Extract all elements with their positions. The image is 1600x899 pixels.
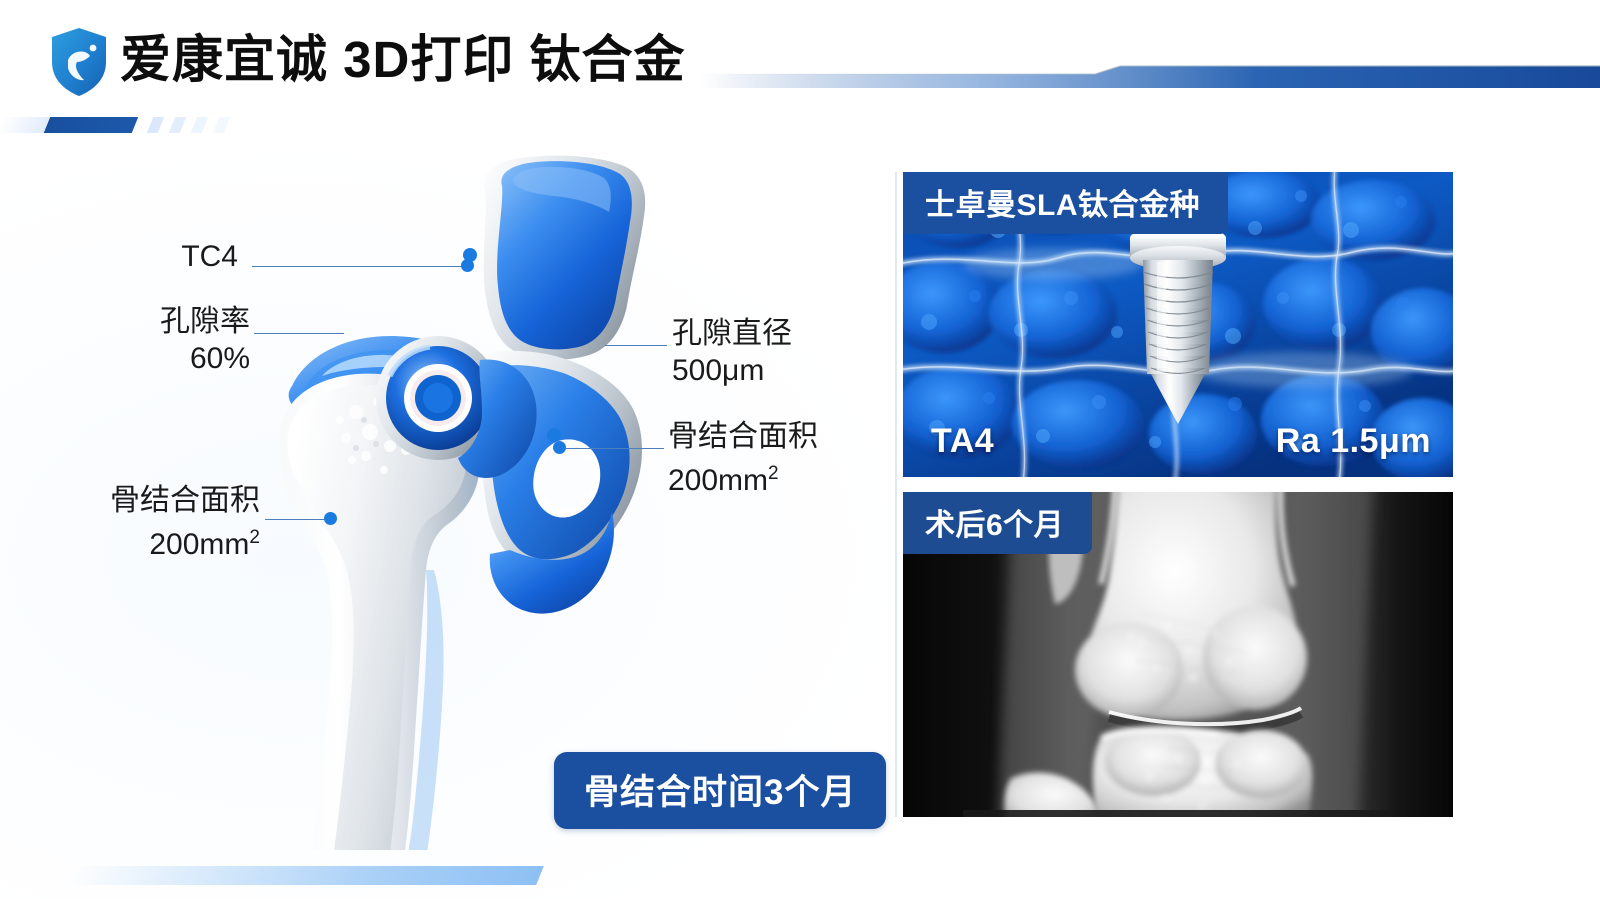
leader-line-tc4 xyxy=(252,266,464,267)
header-slash-3 xyxy=(191,117,208,133)
header-slash-4 xyxy=(213,117,230,133)
sem-panel: 士卓曼SLA钛合金种 TA4 Ra 1.5μm xyxy=(903,172,1453,477)
sem-material-label: TA4 xyxy=(931,422,994,461)
leader-line-bone-area-left xyxy=(265,519,325,520)
callout-bone-area-left-value: 200mm xyxy=(149,528,249,561)
xray-panel: 术后6个月 xyxy=(903,492,1453,817)
header-slash-2 xyxy=(169,117,186,133)
callout-porosity-value: 60% xyxy=(58,340,250,377)
bone-integration-time-badge: 骨结合时间3个月 xyxy=(554,752,886,829)
leader-line-bone-area-right xyxy=(566,448,664,449)
leader-dot-bone-area-right xyxy=(553,441,566,454)
callout-bone-area-left-label: 骨结合面积 xyxy=(60,482,260,519)
callout-pore-diameter-value: 500μm xyxy=(672,352,892,389)
callout-porosity-label: 孔隙率 xyxy=(58,303,250,340)
callout-pore-diameter: 孔隙直径 500μm xyxy=(672,315,892,389)
callout-bone-area-right-value: 200mm xyxy=(668,464,768,497)
callout-tc4-label: TC4 xyxy=(181,240,238,273)
sem-roughness-label: Ra 1.5μm xyxy=(1276,422,1431,461)
callout-porosity: 孔隙率 60% xyxy=(58,303,250,377)
implant-screw-icon xyxy=(1113,216,1243,436)
callout-tc4: TC4 xyxy=(78,238,238,275)
xray-panel-tab-label: 术后6个月 xyxy=(903,492,1092,554)
leader-line-pore-diameter xyxy=(605,345,667,346)
footer-stripe-decoration xyxy=(66,866,544,885)
sem-panel-tab-label: 士卓曼SLA钛合金种 xyxy=(903,172,1228,234)
leader-line-porosity xyxy=(254,333,344,334)
callout-bone-area-right-label: 骨结合面积 xyxy=(668,418,888,455)
header-slash-1 xyxy=(147,117,164,133)
callout-pore-diameter-label: 孔隙直径 xyxy=(672,315,892,352)
implant-illustration xyxy=(180,150,880,850)
callout-bone-area-left: 骨结合面积 200mm2 xyxy=(60,482,260,563)
header-stripe-accent xyxy=(44,117,138,133)
callout-bone-area-right: 骨结合面积 200mm2 xyxy=(668,418,888,499)
page-title: 爱康宜诚 3D打印 钛合金 xyxy=(120,22,686,98)
header-ribbon-decoration xyxy=(700,52,1600,92)
slide-canvas: 爱康宜诚 3D打印 钛合金 xyxy=(0,0,1600,899)
leader-dot-bone-area-left xyxy=(324,512,337,525)
dot-pore-diameter xyxy=(547,428,561,442)
leader-dot-tc4 xyxy=(461,259,474,272)
callout-bone-area-left-sup: 2 xyxy=(249,527,260,548)
header: 爱康宜诚 3D打印 钛合金 xyxy=(0,0,1600,150)
vertical-divider xyxy=(895,172,897,817)
shield-icon xyxy=(48,26,110,98)
callout-bone-area-right-sup: 2 xyxy=(768,463,779,484)
